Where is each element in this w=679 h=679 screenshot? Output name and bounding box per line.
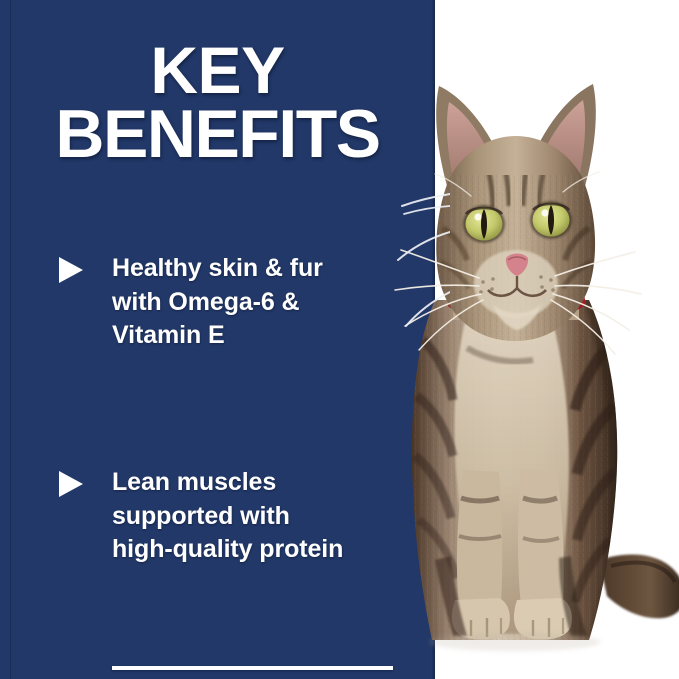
cat-photo [435,0,679,679]
benefits-list: Healthy skin & fur with Omega-6 & Vitami… [0,252,435,353]
benefit-line: supported with [112,502,290,530]
benefit-text-lean-muscles: Lean muscles supported with high-quality… [112,466,343,567]
key-benefits-graphic: KEY BENEFITS Healthy skin & fur with Ome… [0,0,679,679]
benefit-line: high-quality protein [112,535,343,563]
page-title-line-2: BENEFITS [0,102,435,168]
benefit-text-skin-fur: Healthy skin & fur with Omega-6 & Vitami… [112,252,323,353]
benefit-item-skin-fur: Healthy skin & fur with Omega-6 & Vitami… [0,252,435,353]
benefits-panel: KEY BENEFITS Healthy skin & fur with Ome… [0,0,435,679]
triangle-right-icon [57,470,85,498]
benefit-line: with Omega-6 & [112,288,300,316]
triangle-right-icon [57,256,85,284]
benefit-line: Vitamin E [112,321,225,349]
benefit-line: Lean muscles [112,468,276,496]
benefit-line: Healthy skin & fur [112,254,323,282]
benefit-item-lean-muscles: Lean muscles supported with high-quality… [0,466,435,567]
page-title: KEY BENEFITS [0,38,435,168]
page-title-line-1: KEY [0,38,435,102]
benefit-divider [112,666,393,670]
cat-illustration [375,0,679,679]
